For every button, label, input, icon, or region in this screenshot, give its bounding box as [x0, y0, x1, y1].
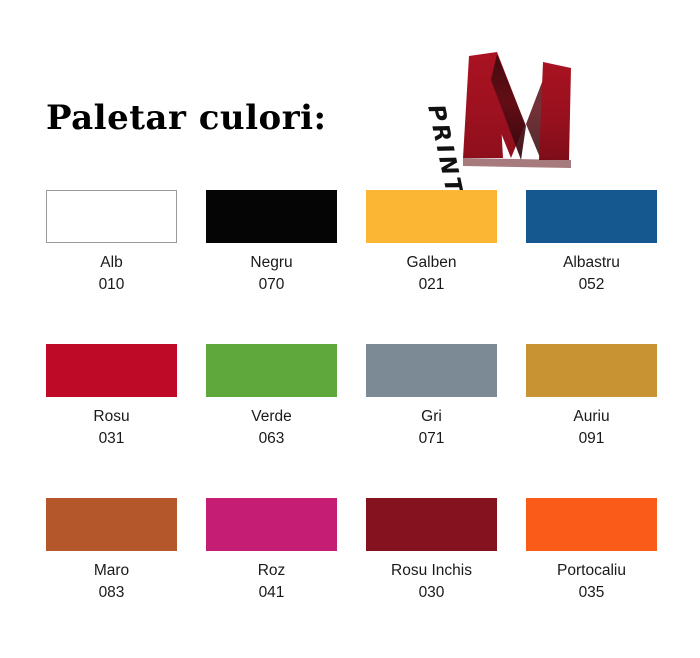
- swatch-cell[interactable]: Verde063: [206, 344, 337, 450]
- swatch-code: 071: [366, 428, 497, 450]
- swatch-code: 021: [366, 274, 497, 296]
- color-swatch[interactable]: [366, 344, 497, 397]
- swatch-cell[interactable]: Albastru052: [526, 190, 657, 296]
- swatch-code: 063: [206, 428, 337, 450]
- swatch-cell[interactable]: Rosu Inchis030: [366, 498, 497, 604]
- color-swatch[interactable]: [206, 190, 337, 243]
- swatch-name: Albastru: [526, 252, 657, 274]
- swatch-cell[interactable]: Roz041: [206, 498, 337, 604]
- swatch-name: Gri: [366, 406, 497, 428]
- swatch-code: 091: [526, 428, 657, 450]
- color-swatch[interactable]: [206, 498, 337, 551]
- swatch-code: 041: [206, 582, 337, 604]
- color-palette-grid: Alb010Negru070Galben021Albastru052Rosu03…: [46, 190, 657, 652]
- swatch-name: Roz: [206, 560, 337, 582]
- swatch-code: 052: [526, 274, 657, 296]
- swatch-name: Galben: [366, 252, 497, 274]
- swatch-cell[interactable]: Gri071: [366, 344, 497, 450]
- swatch-code: 083: [46, 582, 177, 604]
- swatch-name: Portocaliu: [526, 560, 657, 582]
- color-swatch[interactable]: [46, 498, 177, 551]
- swatch-code: 030: [366, 582, 497, 604]
- swatch-cell[interactable]: Maro083: [46, 498, 177, 604]
- swatch-cell[interactable]: Alb010: [46, 190, 177, 296]
- brand-logo: PRINT: [425, 28, 575, 183]
- swatch-cell[interactable]: Portocaliu035: [526, 498, 657, 604]
- swatch-name: Rosu Inchis: [366, 560, 497, 582]
- color-swatch[interactable]: [526, 498, 657, 551]
- swatch-code: 031: [46, 428, 177, 450]
- color-swatch[interactable]: [526, 344, 657, 397]
- swatch-name: Verde: [206, 406, 337, 428]
- page-title: Paletar culori:: [46, 98, 327, 138]
- color-swatch[interactable]: [206, 344, 337, 397]
- color-swatch[interactable]: [46, 344, 177, 397]
- swatch-name: Auriu: [526, 406, 657, 428]
- swatch-cell[interactable]: Galben021: [366, 190, 497, 296]
- swatch-code: 035: [526, 582, 657, 604]
- color-swatch[interactable]: [46, 190, 177, 243]
- color-swatch[interactable]: [366, 498, 497, 551]
- swatch-name: Negru: [206, 252, 337, 274]
- color-swatch[interactable]: [526, 190, 657, 243]
- swatch-name: Rosu: [46, 406, 177, 428]
- swatch-cell[interactable]: Negru070: [206, 190, 337, 296]
- swatch-code: 070: [206, 274, 337, 296]
- color-swatch[interactable]: [366, 190, 497, 243]
- logo-m-icon: [425, 28, 575, 183]
- swatch-name: Alb: [46, 252, 177, 274]
- swatch-cell[interactable]: Rosu031: [46, 344, 177, 450]
- swatch-name: Maro: [46, 560, 177, 582]
- swatch-code: 010: [46, 274, 177, 296]
- swatch-cell[interactable]: Auriu091: [526, 344, 657, 450]
